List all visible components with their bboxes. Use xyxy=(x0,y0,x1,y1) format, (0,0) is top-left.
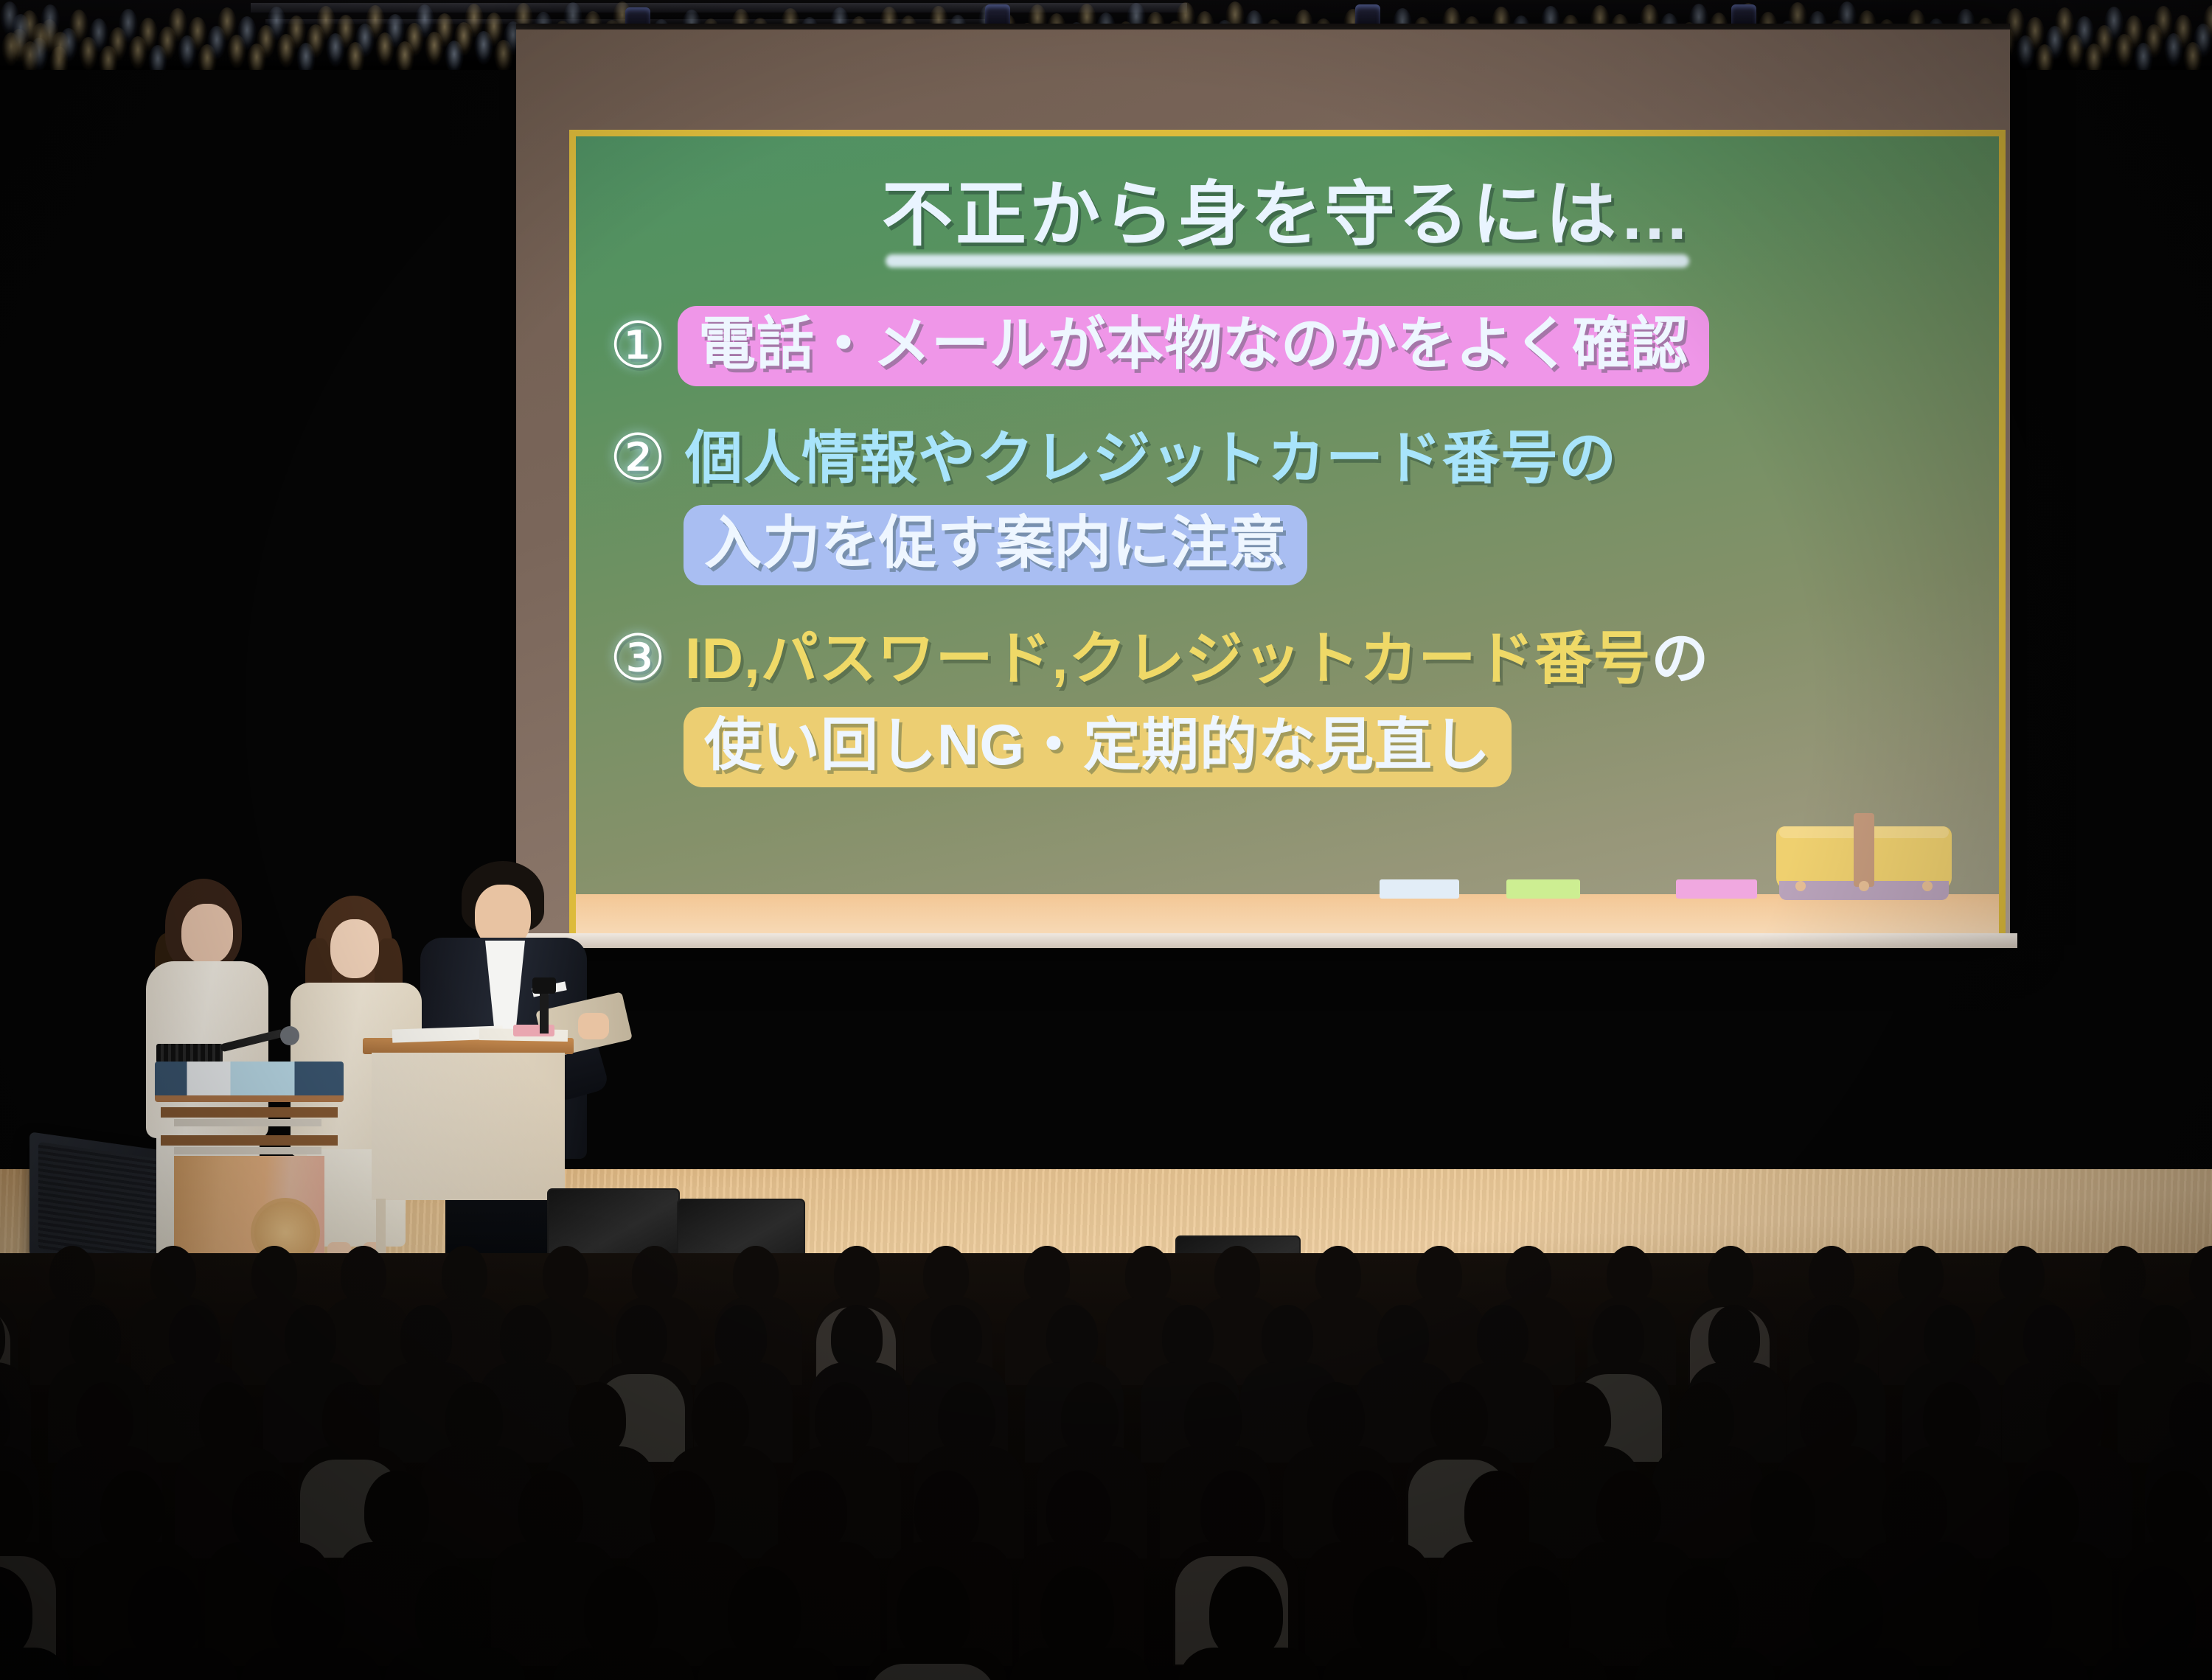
item-marker-3: ③ xyxy=(598,621,678,695)
audience-shoulders xyxy=(421,1446,532,1558)
audience-head xyxy=(1800,1382,1857,1455)
slide-mini-box-icon xyxy=(1380,879,1459,899)
slide-mini-box-icon xyxy=(1676,879,1757,899)
audience-head xyxy=(285,1305,336,1370)
audience-shoulders xyxy=(1652,1446,1763,1558)
presenter-table xyxy=(369,1038,568,1266)
audience-head xyxy=(445,1382,503,1455)
audience-head xyxy=(1046,1471,1111,1551)
audience-head xyxy=(1200,1471,1265,1551)
audience-shoulders xyxy=(1178,1648,1320,1680)
audience-shoulders xyxy=(1635,1648,1776,1680)
item-2-highlight-chip: 入力を促す案内に注意 xyxy=(684,505,1307,585)
audience-head xyxy=(1607,1246,1652,1303)
item-2-line-2-text: 入力を促す案内に注意 xyxy=(704,510,1287,575)
audience-head xyxy=(1162,1305,1214,1370)
audience-head xyxy=(782,1471,847,1551)
audience-head xyxy=(1708,1305,1760,1370)
item-3-line-1-suffix: の xyxy=(1651,626,1709,691)
audience-head xyxy=(76,1382,133,1455)
audience-head xyxy=(914,1471,979,1551)
item-marker-2: ② xyxy=(598,421,678,495)
audience-shoulders xyxy=(2091,1648,2212,1680)
audience-head xyxy=(1464,1471,1529,1551)
audience-head xyxy=(199,1382,257,1455)
audience-head xyxy=(271,1566,345,1659)
audience-head xyxy=(568,1382,626,1455)
audience-head xyxy=(1477,1305,1528,1370)
audience-shoulders xyxy=(1466,1648,1607,1680)
audience-head xyxy=(251,1246,297,1303)
audience-head xyxy=(1596,1471,1661,1551)
audience-head xyxy=(543,1246,588,1303)
microphone-head-icon xyxy=(280,1026,299,1045)
audience-head xyxy=(1809,1566,1883,1659)
audience-head xyxy=(1809,1246,1854,1303)
audience-head xyxy=(1506,1246,1551,1303)
audience-head xyxy=(150,1246,196,1303)
item-3-line-1-text: ID,パスワード,クレジットカード番号 xyxy=(685,626,1651,691)
audience-head xyxy=(2100,1246,2146,1303)
audience-head xyxy=(1125,1246,1171,1303)
audience-shoulders xyxy=(1322,1648,1464,1680)
slide-item-3: ③ ID,パスワード,クレジットカード番号の xyxy=(598,621,1717,695)
audience-head xyxy=(1898,1246,1944,1303)
audience-head xyxy=(1999,1246,2045,1303)
slide-title: 不正から身を守るには… xyxy=(576,157,1999,259)
audience-head xyxy=(1554,1382,1611,1455)
audience-head xyxy=(1978,1566,2052,1659)
audience-head xyxy=(1353,1566,1427,1659)
audience-head xyxy=(400,1305,452,1370)
item-3-line-2-text: 使い回しNG・定期的な見直し xyxy=(704,712,1491,777)
item-marker-1: ① xyxy=(598,309,678,383)
audience-head xyxy=(341,1246,386,1303)
audience-head xyxy=(1923,1382,1980,1455)
audience-head xyxy=(364,1471,429,1551)
slide-item-3-line-2: 使い回しNG・定期的な見直し xyxy=(684,707,1512,787)
audience-shoulders xyxy=(240,1648,382,1680)
audience-head xyxy=(1040,1566,1114,1659)
auditorium-photo: 不正から身を守るには… ① 電話・メールが本物なのかをよく確認 ② 個人情報やク… xyxy=(0,0,2212,1680)
audience-head xyxy=(1430,1382,1488,1455)
hand xyxy=(578,1013,609,1039)
audience-head xyxy=(69,1305,121,1370)
ceiling-bulb-icon xyxy=(51,32,70,66)
audience-head xyxy=(831,1305,883,1370)
audience-silhouettes xyxy=(0,1253,2212,1680)
audience-head xyxy=(415,1566,489,1659)
audience-head xyxy=(1024,1246,1070,1303)
audience-head xyxy=(1184,1382,1242,1455)
audience-head xyxy=(931,1305,982,1370)
title-underline xyxy=(886,254,1689,268)
audience-head xyxy=(1262,1305,1313,1370)
audience-head xyxy=(938,1382,995,1455)
audience-head xyxy=(1497,1566,1571,1659)
audience-shoulders xyxy=(1778,1648,1920,1680)
audience-head xyxy=(518,1471,583,1551)
audience-shoulders xyxy=(553,1648,695,1680)
microphone-stand-icon xyxy=(540,988,549,1034)
audience-head xyxy=(584,1566,658,1659)
audience-shoulders xyxy=(697,1648,838,1680)
audience-head xyxy=(2014,1471,2079,1551)
audience-head xyxy=(1377,1305,1429,1370)
slide-mini-box-icon xyxy=(1506,879,1580,899)
audience-head xyxy=(100,1471,165,1551)
audience-head xyxy=(500,1305,552,1370)
microphone-icon xyxy=(156,1044,223,1063)
audience-shoulders xyxy=(384,1648,526,1680)
audience-head xyxy=(2189,1246,2212,1303)
audience-head xyxy=(1209,1566,1283,1659)
audience-head xyxy=(815,1382,872,1455)
slide-item-2: ② 個人情報やクレジットカード番号の xyxy=(598,421,1624,495)
audience-head xyxy=(616,1305,667,1370)
item-2-line-1-text: 個人情報やクレジットカード番号の xyxy=(685,425,1617,490)
audience-head xyxy=(650,1471,715,1551)
audience-head xyxy=(897,1566,970,1659)
audience-head xyxy=(632,1246,678,1303)
audience-head xyxy=(1882,1471,1947,1551)
audience-shoulders xyxy=(97,1648,238,1680)
audience-head xyxy=(1332,1471,1397,1551)
audience-shoulders xyxy=(1009,1648,1151,1680)
audience-head xyxy=(1593,1305,1644,1370)
audience-head xyxy=(49,1246,95,1303)
audience-head xyxy=(128,1566,201,1659)
screen-bottom-bar xyxy=(509,933,2017,948)
item-3-highlight-chip: 使い回しNG・定期的な見直し xyxy=(684,707,1512,787)
audience-head xyxy=(715,1305,767,1370)
audience-head xyxy=(2146,1471,2211,1551)
audience-head xyxy=(1666,1566,1739,1659)
audience-head xyxy=(1924,1305,1975,1370)
audience-head xyxy=(1307,1382,1365,1455)
audience-head xyxy=(442,1246,487,1303)
presentation-slide: 不正から身を守るには… ① 電話・メールが本物なのかをよく確認 ② 個人情報やク… xyxy=(569,130,2006,947)
audience-head xyxy=(692,1382,749,1455)
slide-item-1: ① 電話・メールが本物なのかをよく確認 xyxy=(598,306,1709,386)
audience-head xyxy=(1046,1305,1098,1370)
audience-head xyxy=(1214,1246,1260,1303)
item-1-highlight-chip: 電話・メールが本物なのかをよく確認 xyxy=(678,306,1709,386)
audience-head xyxy=(1750,1471,1815,1551)
slide-item-2-line-2: 入力を促す案内に注意 xyxy=(684,505,1307,585)
basket-icon xyxy=(1776,813,1952,900)
audience-head xyxy=(322,1382,380,1455)
audience-head xyxy=(1708,1246,1753,1303)
audience-head xyxy=(2046,1382,2104,1455)
audience-head xyxy=(2023,1305,2075,1370)
audience-head xyxy=(2139,1305,2191,1370)
audience-head xyxy=(1677,1382,1734,1455)
audience-head xyxy=(1315,1246,1361,1303)
audience-head xyxy=(728,1566,801,1659)
audience-shoulders xyxy=(1947,1648,2089,1680)
audience-head xyxy=(834,1246,880,1303)
audience-head xyxy=(1061,1382,1119,1455)
audience-head xyxy=(169,1305,220,1370)
audience-head xyxy=(232,1471,297,1551)
audience-head xyxy=(733,1246,779,1303)
item-1-line-1-text: 電話・メールが本物なのかをよく確認 xyxy=(698,311,1688,376)
audience-head xyxy=(1416,1246,1462,1303)
audience-head xyxy=(2122,1566,2196,1659)
audience-head xyxy=(1808,1305,1860,1370)
audience-head xyxy=(923,1246,969,1303)
